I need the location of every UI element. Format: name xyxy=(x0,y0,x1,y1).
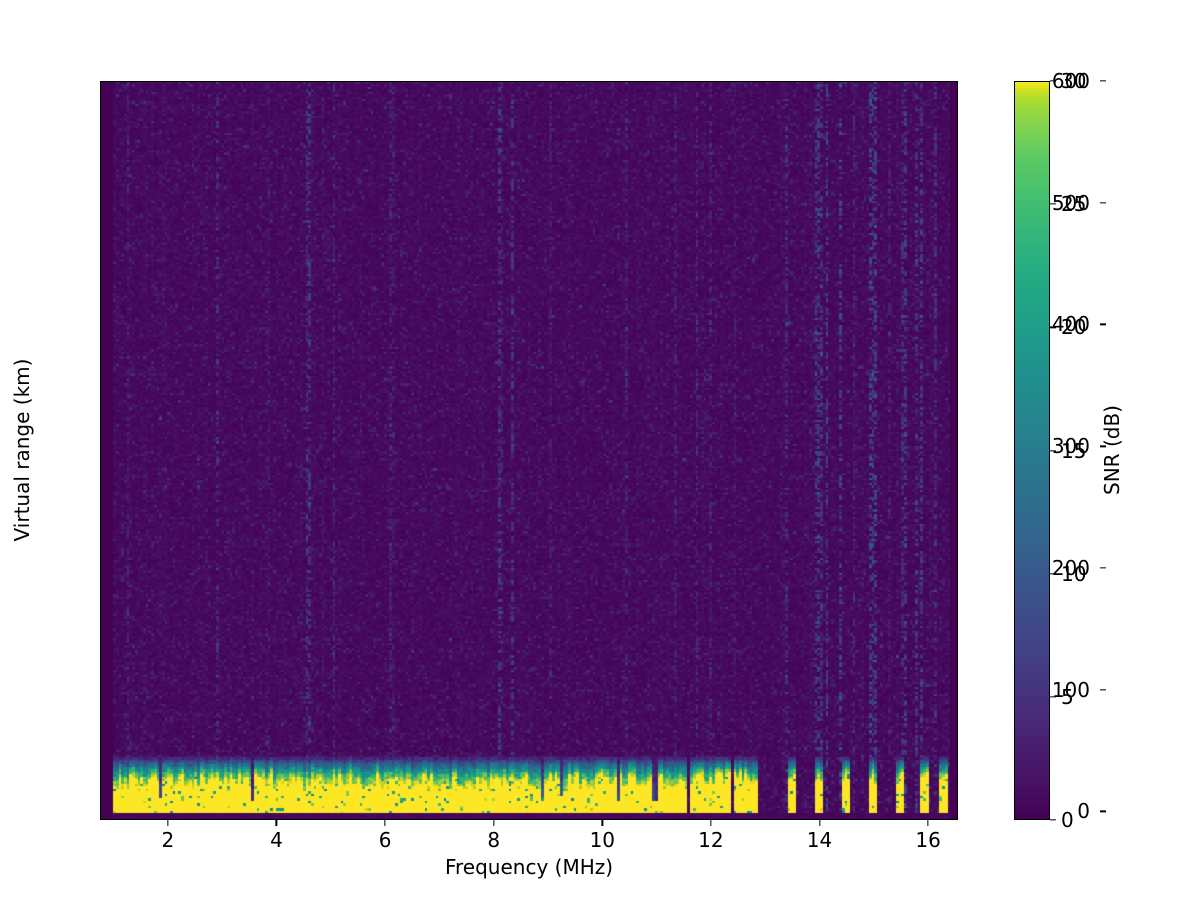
colorbar-gradient[interactable] xyxy=(1014,81,1050,820)
x-tick-label: 4 xyxy=(270,828,283,852)
colorbar-tick-label: 20 xyxy=(1061,315,1086,339)
colorbar-tick-label: 5 xyxy=(1061,685,1074,709)
plot-area[interactable] xyxy=(100,81,958,820)
y-tick-mark xyxy=(1100,689,1106,690)
x-tick-mark xyxy=(276,820,277,826)
colorbar-tick-label: 30 xyxy=(1061,69,1086,93)
colorbar-tick-label: 10 xyxy=(1061,562,1086,586)
ionogram-heatmap[interactable] xyxy=(101,82,957,819)
x-tick-mark xyxy=(167,820,168,826)
x-tick-mark xyxy=(710,820,711,826)
x-axis-label: Frequency (MHz) xyxy=(445,855,613,879)
y-tick-mark xyxy=(1100,811,1106,812)
x-tick-label: 2 xyxy=(162,828,175,852)
colorbar-label: SNR (dB) xyxy=(1100,320,1124,580)
x-tick-mark xyxy=(384,820,385,826)
y-axis-label: Virtual range (km) xyxy=(10,300,34,600)
colorbar-tick-label: 0 xyxy=(1061,808,1074,832)
x-tick-mark xyxy=(493,820,494,826)
x-tick-label: 6 xyxy=(379,828,392,852)
x-tick-label: 10 xyxy=(590,828,615,852)
colorbar-group[interactable]: 051015202530 xyxy=(1014,81,1050,820)
y-tick-label: 0 xyxy=(1077,799,1090,823)
colorbar-tick-label: 25 xyxy=(1061,192,1086,216)
x-tick-mark xyxy=(927,820,928,826)
x-tick-label: 8 xyxy=(487,828,500,852)
x-tick-label: 16 xyxy=(915,828,940,852)
x-tick-mark xyxy=(819,820,820,826)
x-tick-label: 12 xyxy=(698,828,723,852)
colorbar-tick-label: 15 xyxy=(1061,439,1086,463)
x-tick-label: 14 xyxy=(807,828,832,852)
colorbar-tick-mark xyxy=(1050,80,1056,81)
ionogram-figure: IRF Kiruna Ionosonde KI167 2025-10-01 14… xyxy=(0,0,1200,900)
colorbar-tick-mark xyxy=(1050,204,1056,205)
y-tick-mark xyxy=(1100,202,1106,203)
colorbar-tick-mark xyxy=(1050,327,1056,328)
y-tick-mark xyxy=(1100,80,1106,81)
colorbar-tick-mark xyxy=(1050,696,1056,697)
colorbar-tick-mark xyxy=(1050,573,1056,574)
colorbar-tick-mark xyxy=(1050,819,1056,820)
x-tick-mark xyxy=(602,820,603,826)
colorbar-tick-mark xyxy=(1050,450,1056,451)
